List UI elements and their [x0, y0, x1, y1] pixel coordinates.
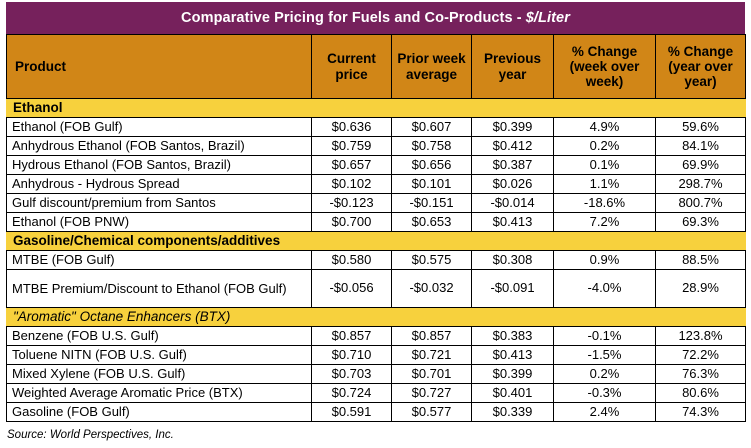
cell-previous-year: $0.399 — [472, 365, 554, 384]
cell-product: Anhydrous Ethanol (FOB Santos, Brazil) — [7, 137, 312, 156]
cell-previous-year: -$0.091 — [472, 270, 554, 308]
cell-product: Toluene NITN (FOB U.S. Gulf) — [7, 346, 312, 365]
pricing-report-sheet: Comparative Pricing for Fuels and Co-Pro… — [0, 0, 751, 448]
cell-previous-year: $0.339 — [472, 403, 554, 422]
column-header-product[interactable]: Product — [7, 35, 312, 99]
cell-change-week-over-week: -18.6% — [554, 194, 656, 213]
cell-change-week-over-week: -4.0% — [554, 270, 656, 308]
cell-current-price: $0.102 — [312, 175, 392, 194]
cell-product: Benzene (FOB U.S. Gulf) — [7, 327, 312, 346]
table-row: MTBE Premium/Discount to Ethanol (FOB Gu… — [7, 270, 746, 308]
source-note: Source: World Perspectives, Inc. — [6, 429, 745, 441]
table-row: Toluene NITN (FOB U.S. Gulf)$0.710$0.721… — [7, 346, 746, 365]
cell-current-price: $0.591 — [312, 403, 392, 422]
cell-prior-week-average: $0.607 — [392, 118, 472, 137]
section-heading-row: Ethanol — [7, 99, 746, 118]
column-header-current-price[interactable]: Current price — [312, 35, 392, 99]
cell-change-year-over-year: 298.7% — [656, 175, 746, 194]
cell-product: Weighted Average Aromatic Price (BTX) — [7, 384, 312, 403]
section-heading-row: "Aromatic" Octane Enhancers (BTX) — [7, 308, 746, 327]
column-header-change-week-over-week[interactable]: % Change (week over week) — [554, 35, 656, 99]
cell-change-year-over-year: 800.7% — [656, 194, 746, 213]
cell-previous-year: $0.412 — [472, 137, 554, 156]
cell-previous-year: -$0.014 — [472, 194, 554, 213]
cell-prior-week-average: $0.857 — [392, 327, 472, 346]
cell-current-price: $0.724 — [312, 384, 392, 403]
cell-current-price: $0.657 — [312, 156, 392, 175]
cell-prior-week-average: -$0.151 — [392, 194, 472, 213]
cell-change-year-over-year: 59.6% — [656, 118, 746, 137]
cell-prior-week-average: $0.575 — [392, 251, 472, 270]
table-header: Product Current price Prior week average… — [7, 35, 746, 99]
column-header-change-year-over-year[interactable]: % Change (year over year) — [656, 35, 746, 99]
table-row: Mixed Xylene (FOB U.S. Gulf)$0.703$0.701… — [7, 365, 746, 384]
cell-previous-year: $0.308 — [472, 251, 554, 270]
table-row: Anhydrous Ethanol (FOB Santos, Brazil)$0… — [7, 137, 746, 156]
table-body: EthanolEthanol (FOB Gulf)$0.636$0.607$0.… — [7, 99, 746, 422]
cell-prior-week-average: $0.758 — [392, 137, 472, 156]
cell-change-week-over-week: 0.1% — [554, 156, 656, 175]
cell-change-week-over-week: -1.5% — [554, 346, 656, 365]
column-header-prior-week-average[interactable]: Prior week average — [392, 35, 472, 99]
cell-change-week-over-week: 0.9% — [554, 251, 656, 270]
cell-change-year-over-year: 69.3% — [656, 213, 746, 232]
cell-current-price: $0.759 — [312, 137, 392, 156]
cell-change-year-over-year: 28.9% — [656, 270, 746, 308]
comparative-pricing-table: Product Current price Prior week average… — [6, 34, 746, 422]
cell-product: MTBE (FOB Gulf) — [7, 251, 312, 270]
cell-prior-week-average: $0.653 — [392, 213, 472, 232]
cell-change-week-over-week: 1.1% — [554, 175, 656, 194]
cell-change-year-over-year: 72.2% — [656, 346, 746, 365]
cell-change-week-over-week: -0.3% — [554, 384, 656, 403]
cell-previous-year: $0.399 — [472, 118, 554, 137]
cell-previous-year: $0.387 — [472, 156, 554, 175]
cell-product: Anhydrous - Hydrous Spread — [7, 175, 312, 194]
table-header-row: Product Current price Prior week average… — [7, 35, 746, 99]
section-heading-label: "Aromatic" Octane Enhancers (BTX) — [7, 308, 746, 327]
cell-current-price: $0.857 — [312, 327, 392, 346]
cell-product: Ethanol (FOB Gulf) — [7, 118, 312, 137]
table-row: Benzene (FOB U.S. Gulf)$0.857$0.857$0.38… — [7, 327, 746, 346]
table-row: Ethanol (FOB PNW)$0.700$0.653$0.4137.2%6… — [7, 213, 746, 232]
cell-change-week-over-week: 0.2% — [554, 137, 656, 156]
cell-change-year-over-year: 80.6% — [656, 384, 746, 403]
cell-product: Gasoline (FOB Gulf) — [7, 403, 312, 422]
cell-current-price: $0.703 — [312, 365, 392, 384]
table-row: Ethanol (FOB Gulf)$0.636$0.607$0.3994.9%… — [7, 118, 746, 137]
cell-product: Ethanol (FOB PNW) — [7, 213, 312, 232]
section-heading-row: Gasoline/Chemical components/additives — [7, 232, 746, 251]
column-header-previous-year[interactable]: Previous year — [472, 35, 554, 99]
cell-change-year-over-year: 123.8% — [656, 327, 746, 346]
cell-previous-year: $0.026 — [472, 175, 554, 194]
report-title-text: Comparative Pricing for Fuels and Co-Pro… — [181, 10, 522, 26]
table-row: Gasoline (FOB Gulf)$0.591$0.577$0.3392.4… — [7, 403, 746, 422]
cell-change-week-over-week: -0.1% — [554, 327, 656, 346]
cell-product: Hydrous Ethanol (FOB Santos, Brazil) — [7, 156, 312, 175]
report-title-unit: $/Liter — [526, 10, 570, 26]
table-row: MTBE (FOB Gulf)$0.580$0.575$0.3080.9%88.… — [7, 251, 746, 270]
section-heading-label: Ethanol — [7, 99, 746, 118]
cell-current-price: $0.636 — [312, 118, 392, 137]
cell-change-week-over-week: 2.4% — [554, 403, 656, 422]
cell-change-year-over-year: 69.9% — [656, 156, 746, 175]
cell-prior-week-average: $0.727 — [392, 384, 472, 403]
table-row: Hydrous Ethanol (FOB Santos, Brazil)$0.6… — [7, 156, 746, 175]
report-title-banner: Comparative Pricing for Fuels and Co-Pro… — [6, 2, 745, 34]
cell-prior-week-average: $0.721 — [392, 346, 472, 365]
cell-current-price: $0.580 — [312, 251, 392, 270]
cell-prior-week-average: $0.577 — [392, 403, 472, 422]
cell-current-price: -$0.056 — [312, 270, 392, 308]
cell-previous-year: $0.413 — [472, 213, 554, 232]
table-row: Anhydrous - Hydrous Spread$0.102$0.101$0… — [7, 175, 746, 194]
cell-change-week-over-week: 4.9% — [554, 118, 656, 137]
cell-previous-year: $0.413 — [472, 346, 554, 365]
cell-product: MTBE Premium/Discount to Ethanol (FOB Gu… — [7, 270, 312, 308]
cell-prior-week-average: $0.101 — [392, 175, 472, 194]
cell-change-year-over-year: 84.1% — [656, 137, 746, 156]
cell-change-week-over-week: 0.2% — [554, 365, 656, 384]
cell-change-week-over-week: 7.2% — [554, 213, 656, 232]
cell-previous-year: $0.383 — [472, 327, 554, 346]
section-heading-label: Gasoline/Chemical components/additives — [7, 232, 746, 251]
cell-current-price: $0.700 — [312, 213, 392, 232]
table-row: Gulf discount/premium from Santos-$0.123… — [7, 194, 746, 213]
table-row: Weighted Average Aromatic Price (BTX)$0.… — [7, 384, 746, 403]
cell-product: Gulf discount/premium from Santos — [7, 194, 312, 213]
cell-change-year-over-year: 74.3% — [656, 403, 746, 422]
cell-prior-week-average: $0.701 — [392, 365, 472, 384]
cell-prior-week-average: -$0.032 — [392, 270, 472, 308]
cell-change-year-over-year: 76.3% — [656, 365, 746, 384]
cell-product: Mixed Xylene (FOB U.S. Gulf) — [7, 365, 312, 384]
cell-prior-week-average: $0.656 — [392, 156, 472, 175]
cell-current-price: -$0.123 — [312, 194, 392, 213]
cell-previous-year: $0.401 — [472, 384, 554, 403]
cell-change-year-over-year: 88.5% — [656, 251, 746, 270]
cell-current-price: $0.710 — [312, 346, 392, 365]
